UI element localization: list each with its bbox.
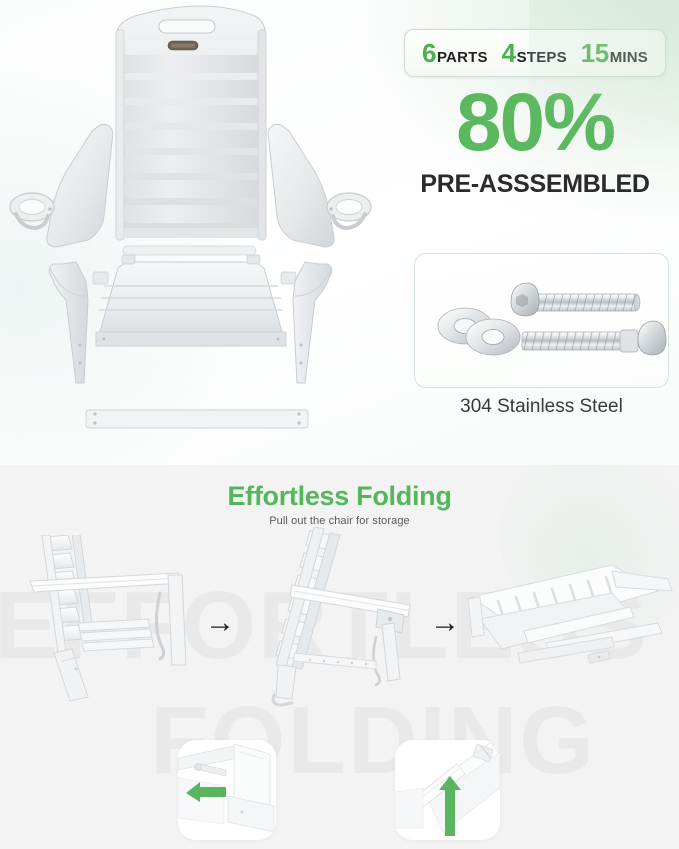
folding-step-3-folded-flat [462, 557, 677, 707]
spec-badge-bar: 6 PARTS 4 STEPS 15 MINS [404, 29, 666, 77]
pre-assembled-headline: 80% PRE-ASSSEMBLED [404, 82, 666, 199]
badge-parts: 6 PARTS [422, 38, 488, 69]
inset-armrest-lift [395, 740, 500, 840]
step-arrow-1: → [205, 608, 235, 638]
armrest-lift-illustration [395, 740, 500, 840]
pre-assembled-label: PRE-ASSSEMBLED [404, 170, 666, 199]
bolt-lower [522, 321, 666, 355]
badge-parts-number: 6 [422, 38, 436, 69]
top-section: 6 PARTS 4 STEPS 15 MINS 80% PRE-ASSSEMBL… [0, 0, 679, 465]
latch-pull-illustration [178, 740, 276, 840]
badge-steps-number: 4 [502, 38, 516, 69]
part-backrest [116, 6, 266, 240]
pre-assembled-percent: 80% [404, 82, 666, 164]
folding-subtitle: Pull out the chair for storage [0, 515, 679, 527]
inset-latch-pull [178, 740, 276, 840]
part-right-leg [293, 262, 332, 383]
part-support-rail-top [123, 246, 256, 255]
badge-mins-number: 15 [581, 38, 609, 69]
part-right-armrest [268, 124, 371, 247]
folding-step-2-half-folded [252, 527, 442, 707]
folding-section: EFFORTLESS FOLDING Effortless Folding Pu… [0, 465, 679, 849]
washer-front [466, 319, 520, 355]
badge-mins-unit: MINS [610, 49, 648, 66]
badge-mins: 15 MINS [581, 38, 648, 69]
hardware-illustration [415, 254, 669, 388]
badge-parts-unit: PARTS [437, 49, 488, 66]
folding-step-1-open-chair [10, 535, 210, 705]
infographic-page: 6 PARTS 4 STEPS 15 MINS 80% PRE-ASSSEMBL… [0, 0, 679, 849]
bolt-upper [511, 283, 640, 316]
badge-steps-unit: STEPS [517, 49, 567, 66]
part-seat [96, 255, 286, 346]
hardware-caption: 304 Stainless Steel [414, 396, 669, 418]
hardware-card [414, 253, 669, 388]
folding-title: Effortless Folding [0, 481, 679, 512]
exploded-chair-diagram [0, 0, 400, 460]
step-arrow-2: → [430, 608, 460, 638]
part-cross-brace [86, 410, 308, 428]
part-left-leg [49, 262, 88, 383]
badge-steps: 4 STEPS [502, 38, 567, 69]
part-left-armrest [10, 124, 113, 247]
